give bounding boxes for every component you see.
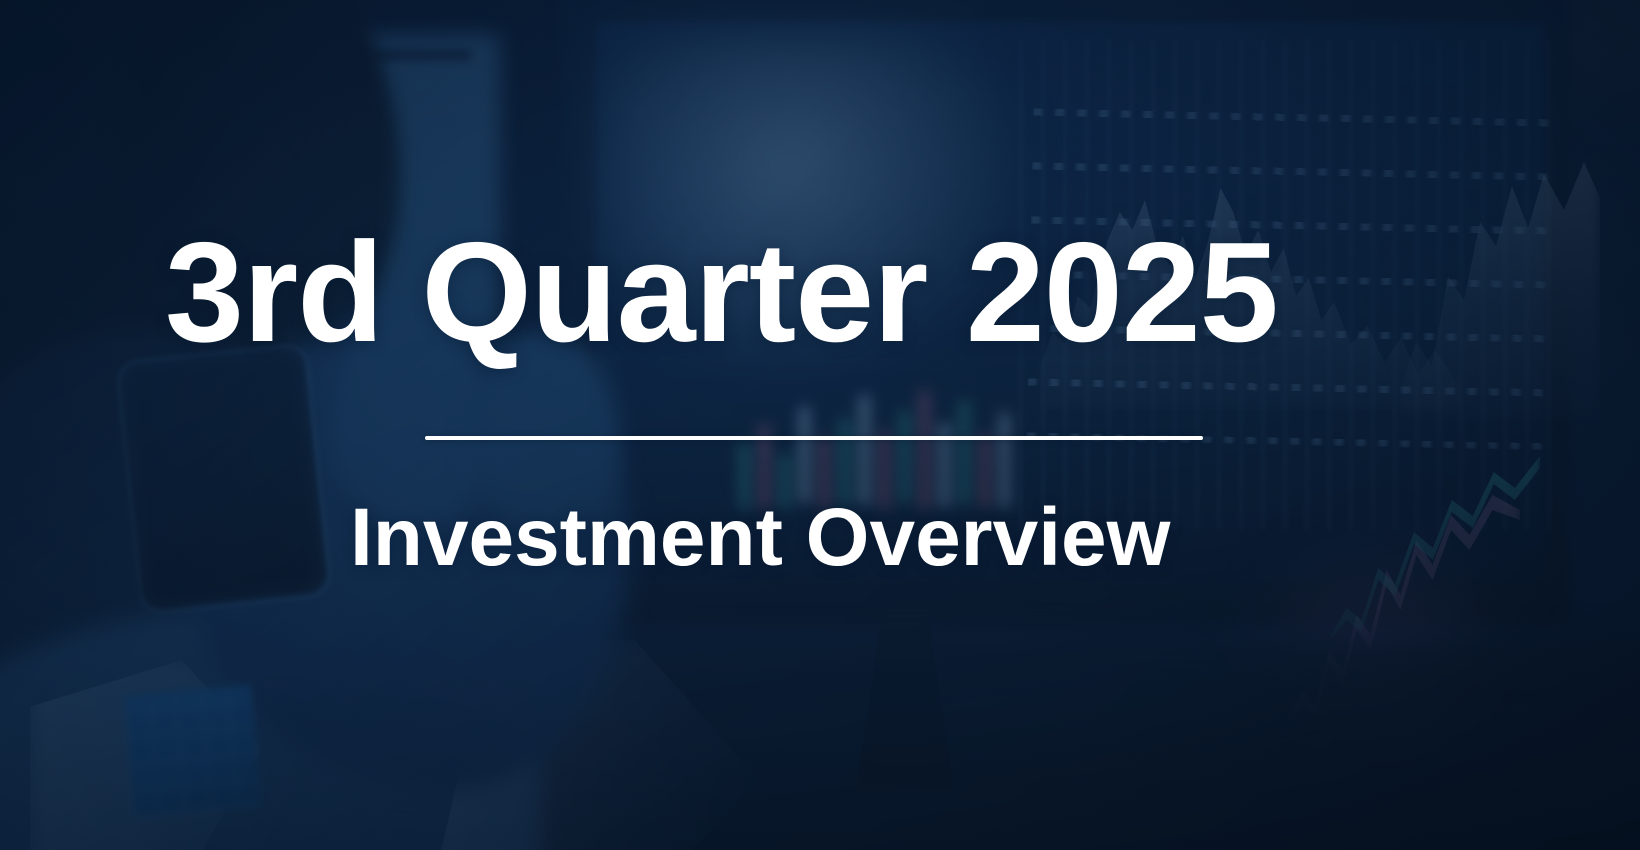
slide-canvas: 3rd Quarter 2025 Investment Overview bbox=[0, 0, 1640, 850]
slide-subtitle: Investment Overview bbox=[350, 497, 1170, 579]
slide-title: 3rd Quarter 2025 bbox=[165, 222, 1278, 364]
title-divider bbox=[425, 436, 1203, 440]
slide-content: 3rd Quarter 2025 Investment Overview bbox=[0, 0, 1640, 850]
